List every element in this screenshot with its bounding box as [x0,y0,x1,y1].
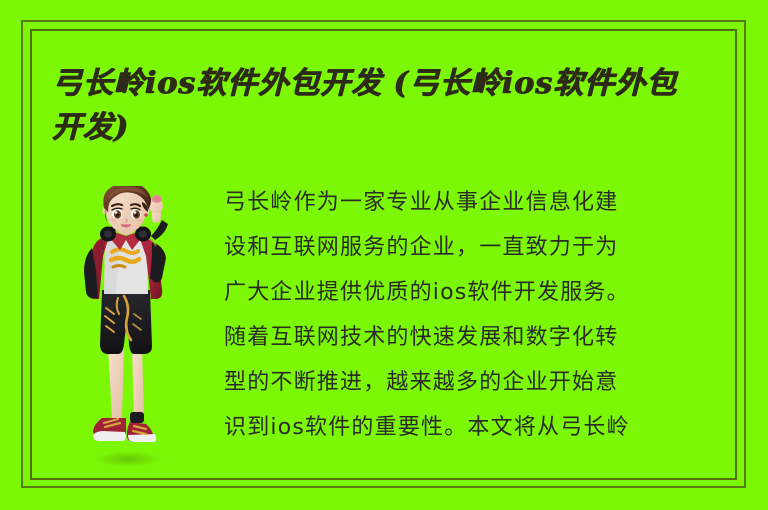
article-line: 随着互联网技术的快速发展和数字化转 [224,315,726,360]
article-line: 广大企业提供优质的ios软件开发服务。 [224,270,726,315]
article-body: 弓长岭作为一家专业从事企业信息化建 设和互联网服务的企业，一直致力于为 广大企业… [224,180,726,450]
chibi-boy-character-illustration [72,186,180,470]
article-line: 设和互联网服务的企业，一直致力于为 [224,225,726,270]
poster-canvas: 弓长岭ios软件外包开发 (弓长岭ios软件外包开发) [0,0,768,510]
article-line: 弓长岭作为一家专业从事企业信息化建 [224,180,726,225]
article-line: 识到ios软件的重要性。本文将从弓长岭 [224,405,726,450]
article-line: 型的不断推进，越来越多的企业开始意 [224,360,726,405]
page-title-text: 弓长岭ios软件外包开发 (弓长岭ios软件外包开发) [52,62,692,150]
page-title: 弓长岭ios软件外包开发 (弓长岭ios软件外包开发) [52,62,692,150]
